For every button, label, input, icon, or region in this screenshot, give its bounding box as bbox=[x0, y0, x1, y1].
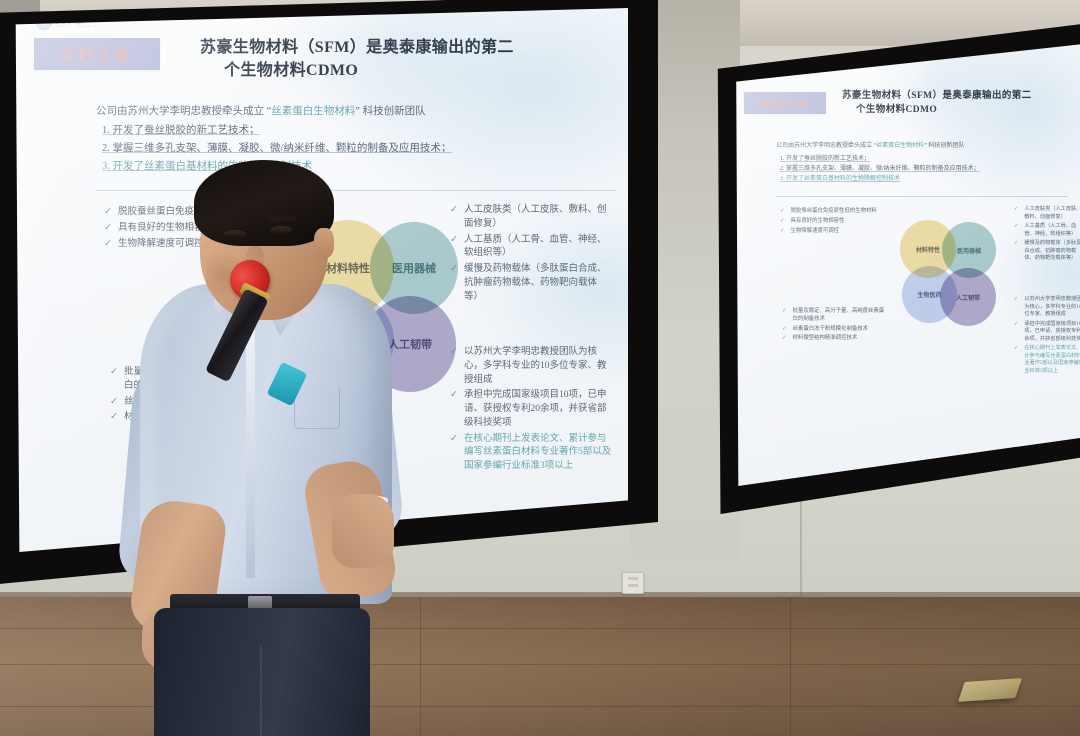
check-icon: ✓ bbox=[110, 396, 118, 407]
check-icon: ✓ bbox=[782, 308, 787, 314]
check-item: ✓在核心期刊上发表论文、累计参与编写丝素蛋白材料专业著作5部以及国家参编行业标准… bbox=[1014, 345, 1080, 375]
slide-numbered-list: 1. 开发了蚕丝脱胶的新工艺技术； 2. 掌握三维多孔支架、薄膜、凝胶、微/纳米… bbox=[780, 154, 1080, 185]
numbered-item: 2. 掌握三维多孔支架、薄膜、凝胶、微/纳米纤维、颗粒的制备及应用技术； bbox=[780, 164, 1080, 174]
check-item: ✓脱胶蚕丝蛋白免疫原性低的生物材料 bbox=[780, 208, 890, 216]
lead-suffix: ” 科技创新团队 bbox=[924, 143, 964, 149]
shirt-pocket bbox=[294, 388, 340, 429]
slide-title-line-2: 个生物材料CDMO bbox=[842, 104, 1077, 118]
check-icon: ✓ bbox=[1014, 223, 1018, 229]
check-item: ✓在核心期刊上发表论文、累计参与编写丝素蛋白材料专业著作5部以及国家参编行业标准… bbox=[450, 433, 615, 474]
presenter-eye-right bbox=[270, 226, 292, 234]
power-outlet[interactable] bbox=[622, 572, 644, 594]
check-icon: ✓ bbox=[110, 366, 118, 377]
checklist-left-top: ✓脱胶蚕丝蛋白免疫原性低的生物材料 ✓具有良好的生物相容性 ✓生物降解速度可调控 bbox=[780, 208, 890, 237]
check-icon: ✓ bbox=[780, 218, 785, 224]
check-icon: ✓ bbox=[450, 389, 458, 400]
lead-suffix: ” 科技创新团队 bbox=[355, 106, 425, 117]
slide-lead-paragraph: 公司由苏州大学李明忠教授牵头成立 “丝素蛋白生物材料” 科技创新团队 bbox=[96, 104, 596, 120]
lead-highlight: 丝素蛋白生物材料 bbox=[271, 106, 355, 117]
checklist-right-top: ✓人工皮肤类（人工皮肤、敷料、创面修复） ✓人工基质（人工骨、血管、神经、软组织… bbox=[1014, 206, 1080, 265]
lead-prefix: 公司由苏州大学李明忠教授牵头成立 “ bbox=[776, 143, 876, 149]
trouser-seam bbox=[260, 646, 262, 736]
presenter-brow-right bbox=[268, 216, 296, 221]
slide-title-line-2: 个生物材料CDMO bbox=[200, 59, 620, 82]
checklist-right-top: ✓人工皮肤类（人工皮肤、敷料、创面修复） ✓人工基质（人工骨、血管、神经、软组织… bbox=[450, 204, 610, 306]
check-item: ✓承担中完成国家级项目10项，已申请、获授权专利20余项，并获省部级科技奖项 bbox=[450, 389, 615, 430]
presenter-hair bbox=[194, 160, 334, 246]
check-icon: ✓ bbox=[1014, 321, 1018, 327]
slide-title: 苏豪生物材料（SFM）是奥泰康输出的第二 个生物材料CDMO bbox=[842, 90, 1077, 118]
shirt-placket bbox=[246, 326, 255, 578]
photo-scene: 奥泰康 A O T A I K A N G 实践之路 苏豪生物材料（SFM）是奥… bbox=[0, 0, 1080, 736]
section-badge: 实践之路 bbox=[744, 92, 826, 114]
check-item: ✓缓慢及药物载体（多肽蛋白合成、抗肿瘤药物载体、药物靶向载体等） bbox=[450, 263, 610, 304]
floor-plank-line bbox=[790, 597, 791, 736]
check-icon: ✓ bbox=[780, 228, 785, 234]
check-icon: ✓ bbox=[104, 238, 112, 249]
numbered-item: 1. 开发了蚕丝脱胶的新工艺技术； bbox=[102, 122, 622, 140]
check-icon: ✓ bbox=[1014, 240, 1018, 246]
presenter-eye-left bbox=[224, 230, 246, 238]
check-icon: ✓ bbox=[1014, 206, 1018, 212]
logo-text-en: A O T A I K A N G bbox=[760, 70, 789, 73]
check-item: ✓以苏州大学李明忠教授团队为核心，多学科专业的10多位专家、教授组成 bbox=[1014, 296, 1080, 319]
check-icon: ✓ bbox=[450, 204, 458, 215]
logo-mark-icon bbox=[36, 14, 52, 30]
logo-text-cn: 奥泰康 bbox=[760, 63, 789, 69]
presenter-right-hand bbox=[332, 494, 394, 568]
check-icon: ✓ bbox=[450, 234, 458, 245]
slide-divider bbox=[776, 196, 1068, 197]
section-badge-label: 实践之路 bbox=[761, 96, 809, 111]
check-icon: ✓ bbox=[450, 263, 458, 274]
venn-circle-ligament: 人工韧带 bbox=[940, 268, 996, 326]
slide-lead-paragraph: 公司由苏州大学李明忠教授牵头成立 “丝素蛋白生物材料” 科技创新团队 bbox=[776, 142, 1062, 151]
check-icon: ✓ bbox=[450, 346, 458, 357]
projection-screen-secondary: 奥泰康 A O T A I K A N G 实践之路 苏豪生物材料（SFM）是奥… bbox=[712, 22, 1080, 514]
presenter-ear bbox=[314, 228, 334, 258]
check-icon: ✓ bbox=[104, 222, 112, 233]
venn-diagram: 材料特性 医用器械 生物医药 人工韧带 bbox=[900, 220, 1010, 330]
check-item: ✓丝素蛋白冻干粉规模化制备技术 bbox=[782, 326, 888, 334]
check-icon: ✓ bbox=[780, 208, 785, 214]
logo-text-en: A O T A I K A N G bbox=[56, 25, 97, 29]
check-item: ✓人工皮肤类（人工皮肤、敷料、创面修复） bbox=[450, 204, 610, 232]
presenter-figure bbox=[118, 176, 418, 736]
check-icon: ✓ bbox=[1014, 296, 1018, 302]
check-item: ✓缓慢及药物载体（多肽蛋白合成、抗肿瘤药物载体、药物靶向载体等） bbox=[1014, 240, 1080, 263]
section-badge: 实践之路 bbox=[34, 38, 160, 70]
slide-secondary: 奥泰康 A O T A I K A N G 实践之路 苏豪生物材料（SFM）是奥… bbox=[732, 44, 1080, 486]
slide-title-line-1: 苏豪生物材料（SFM）是奥泰康输出的第二 bbox=[200, 36, 620, 59]
check-item: ✓材料微型结构精准调控技术 bbox=[782, 335, 888, 343]
numbered-item: 2. 掌握三维多孔支架、薄膜、凝胶、微/纳米纤维、颗粒的制备及应用技术； bbox=[102, 140, 622, 158]
check-icon: ✓ bbox=[782, 326, 787, 332]
floor-plank-line bbox=[420, 597, 421, 736]
company-logo: 奥泰康 A O T A I K A N G bbox=[36, 14, 97, 30]
numbered-item: 3. 开发了丝素蛋白基材料的生物降解控制技术 bbox=[102, 158, 622, 176]
check-item: ✓承担中完成国家级项目10项，已申请、获授权专利20余项，并获省部级科技奖项 bbox=[1014, 321, 1080, 344]
check-icon: ✓ bbox=[450, 433, 458, 444]
checklist-left-bottom: ✓批量及稳定、高分子量、高纯度丝素蛋白的制备技术 ✓丝素蛋白冻干粉规模化制备技术… bbox=[782, 308, 888, 345]
presenter-trousers bbox=[154, 608, 370, 736]
slide-title: 苏豪生物材料（SFM）是奥泰康输出的第二 个生物材料CDMO bbox=[200, 36, 620, 82]
check-item: ✓以苏州大学李明忠教授团队为核心，多学科专业的10多位专家、教授组成 bbox=[450, 346, 615, 387]
projection-surface-secondary: 奥泰康 A O T A I K A N G 实践之路 苏豪生物材料（SFM）是奥… bbox=[732, 44, 1080, 486]
check-item: ✓批量及稳定、高分子量、高纯度丝素蛋白的制备技术 bbox=[782, 308, 888, 324]
lead-prefix: 公司由苏州大学李明忠教授牵头成立 “ bbox=[96, 106, 271, 117]
check-item: ✓人工基质（人工骨、血管、神经、软组织等） bbox=[1014, 223, 1080, 238]
lead-highlight: 丝素蛋白生物材料 bbox=[876, 143, 924, 149]
check-icon: ✓ bbox=[782, 335, 787, 341]
check-item: ✓人工基质（人工骨、血管、神经、软组织等） bbox=[450, 234, 610, 262]
slide-numbered-list: 1. 开发了蚕丝脱胶的新工艺技术； 2. 掌握三维多孔支架、薄膜、凝胶、微/纳米… bbox=[102, 122, 622, 176]
slide-title-line-1: 苏豪生物材料（SFM）是奥泰康输出的第二 bbox=[842, 90, 1077, 104]
numbered-item: 1. 开发了蚕丝脱胶的新工艺技术； bbox=[780, 154, 1080, 164]
check-item: ✓具有良好的生物相容性 bbox=[780, 218, 890, 226]
section-badge-label: 实践之路 bbox=[61, 44, 133, 65]
check-icon: ✓ bbox=[110, 411, 118, 422]
numbered-item: 3. 开发了丝素蛋白基材料的生物降解控制技术 bbox=[780, 174, 1080, 184]
checklist-right-bottom: ✓以苏州大学李明忠教授团队为核心，多学科专业的10多位专家、教授组成 ✓承担中完… bbox=[1014, 296, 1080, 377]
check-icon: ✓ bbox=[1014, 345, 1018, 351]
checklist-right-bottom: ✓以苏州大学李明忠教授团队为核心，多学科专业的10多位专家、教授组成 ✓承担中完… bbox=[450, 346, 615, 476]
presenter-brow-left bbox=[222, 220, 250, 225]
check-item: ✓生物降解速度可调控 bbox=[780, 228, 890, 236]
check-item: ✓人工皮肤类（人工皮肤、敷料、创面修复） bbox=[1014, 206, 1080, 221]
check-icon: ✓ bbox=[104, 206, 112, 217]
